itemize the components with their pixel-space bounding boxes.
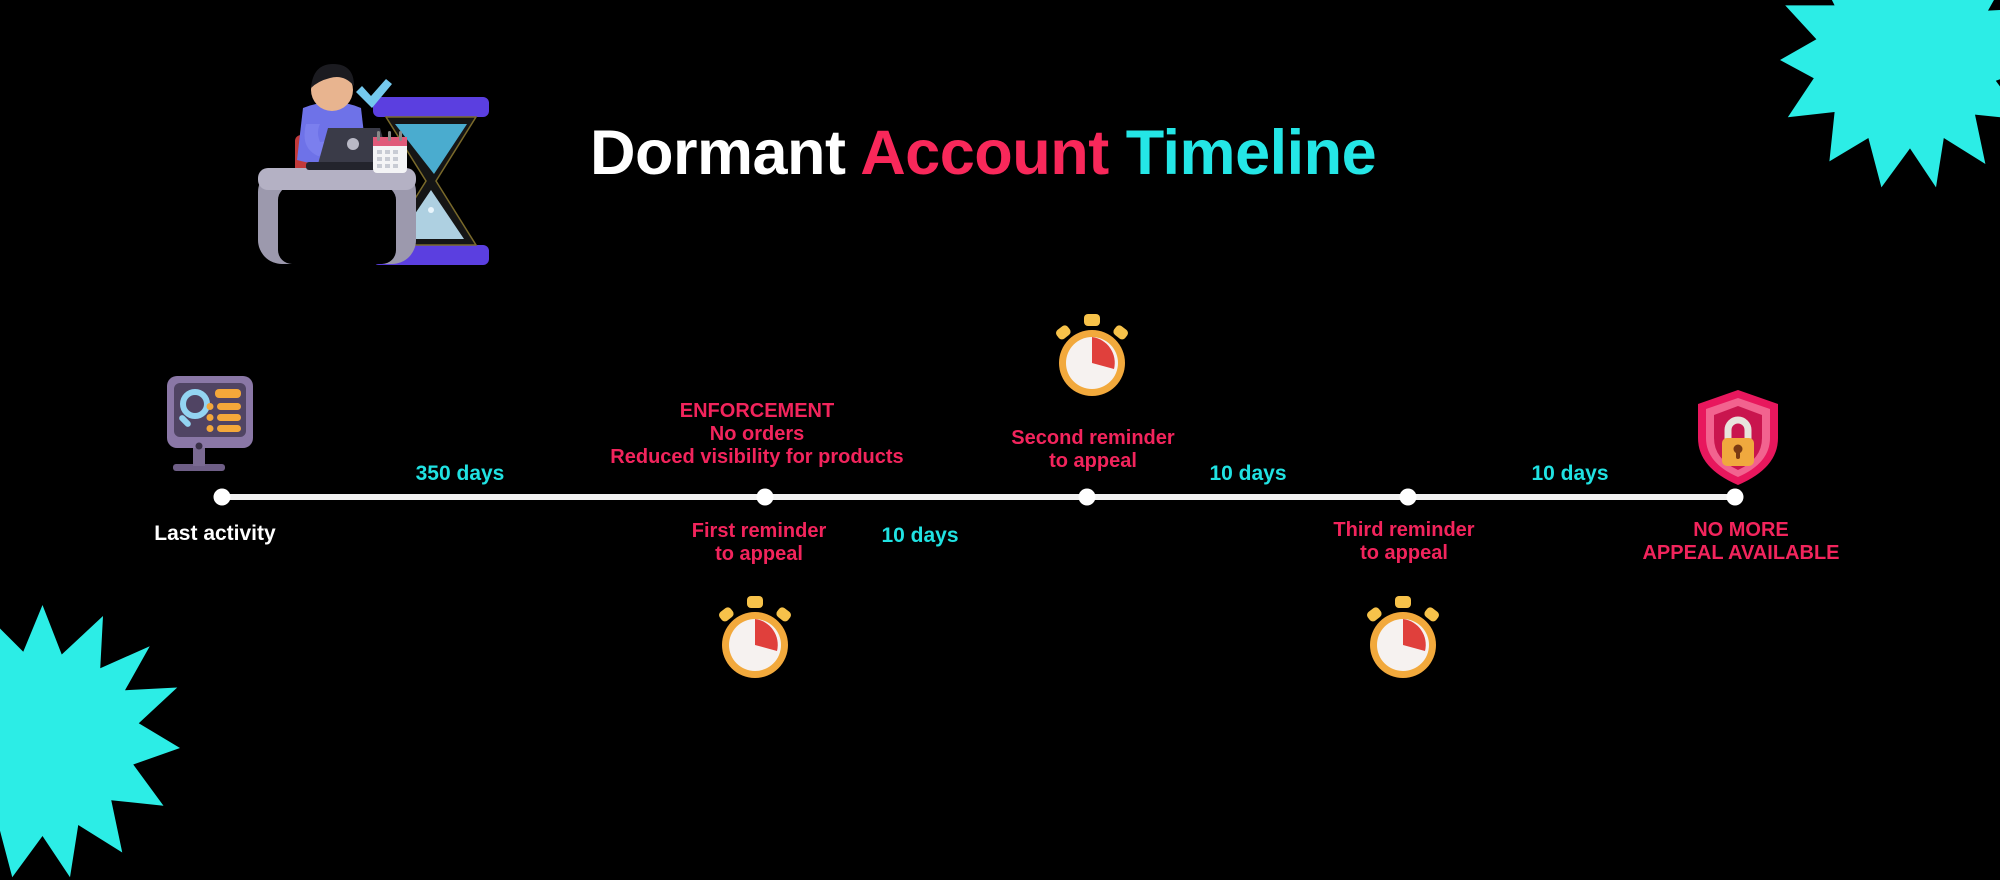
interval-label-10-days-1: 10 days — [881, 524, 958, 548]
timeline-label-last-activity: Last activity — [154, 522, 275, 546]
third-reminder-line-1: Third reminder — [1333, 519, 1474, 542]
timeline-label-no-more-appeal: NO MORE APPEAL AVAILABLE — [1642, 519, 1839, 565]
second-reminder-line-1: Second reminder — [1011, 427, 1174, 450]
stopwatch-icon-second-reminder — [1048, 313, 1136, 399]
third-reminder-line-2: to appeal — [1333, 542, 1474, 565]
timeline-node-third-reminder[interactable] — [1400, 489, 1417, 506]
timeline-label-enforcement: ENFORCEMENT No orders Reduced visibility… — [610, 400, 903, 470]
interval-label-10-days-2: 10 days — [1209, 462, 1286, 486]
first-reminder-line-1: First reminder — [692, 520, 826, 543]
last-activity-text: Last activity — [154, 522, 275, 546]
timeline-label-third-reminder: Third reminder to appeal — [1333, 519, 1474, 565]
timeline-node-first-reminder[interactable] — [757, 489, 774, 506]
timeline-label-second-reminder: Second reminder to appeal — [1011, 427, 1174, 473]
stopwatch-icon-first-reminder — [711, 595, 799, 681]
interval-label-10-days-3: 10 days — [1531, 462, 1608, 486]
monitor-search-icon — [165, 372, 263, 476]
timeline-node-last-activity[interactable] — [214, 489, 231, 506]
timeline: Last activity ENFORCEMENT No orders Redu… — [0, 0, 2000, 800]
enforcement-line-2: No orders — [610, 423, 903, 446]
timeline-axis — [222, 494, 1735, 500]
timeline-label-first-reminder: First reminder to appeal — [692, 520, 826, 566]
interval-label-350-days: 350 days — [416, 462, 505, 486]
enforcement-line-1: ENFORCEMENT — [610, 400, 903, 423]
shield-lock-icon — [1692, 388, 1784, 488]
first-reminder-line-2: to appeal — [692, 543, 826, 566]
no-more-line-2: APPEAL AVAILABLE — [1642, 542, 1839, 565]
stopwatch-icon-third-reminder — [1359, 595, 1447, 681]
second-reminder-line-2: to appeal — [1011, 450, 1174, 473]
timeline-node-second-reminder[interactable] — [1079, 489, 1096, 506]
timeline-node-no-more-appeal[interactable] — [1727, 489, 1744, 506]
no-more-line-1: NO MORE — [1642, 519, 1839, 542]
enforcement-line-3: Reduced visibility for products — [610, 446, 903, 469]
